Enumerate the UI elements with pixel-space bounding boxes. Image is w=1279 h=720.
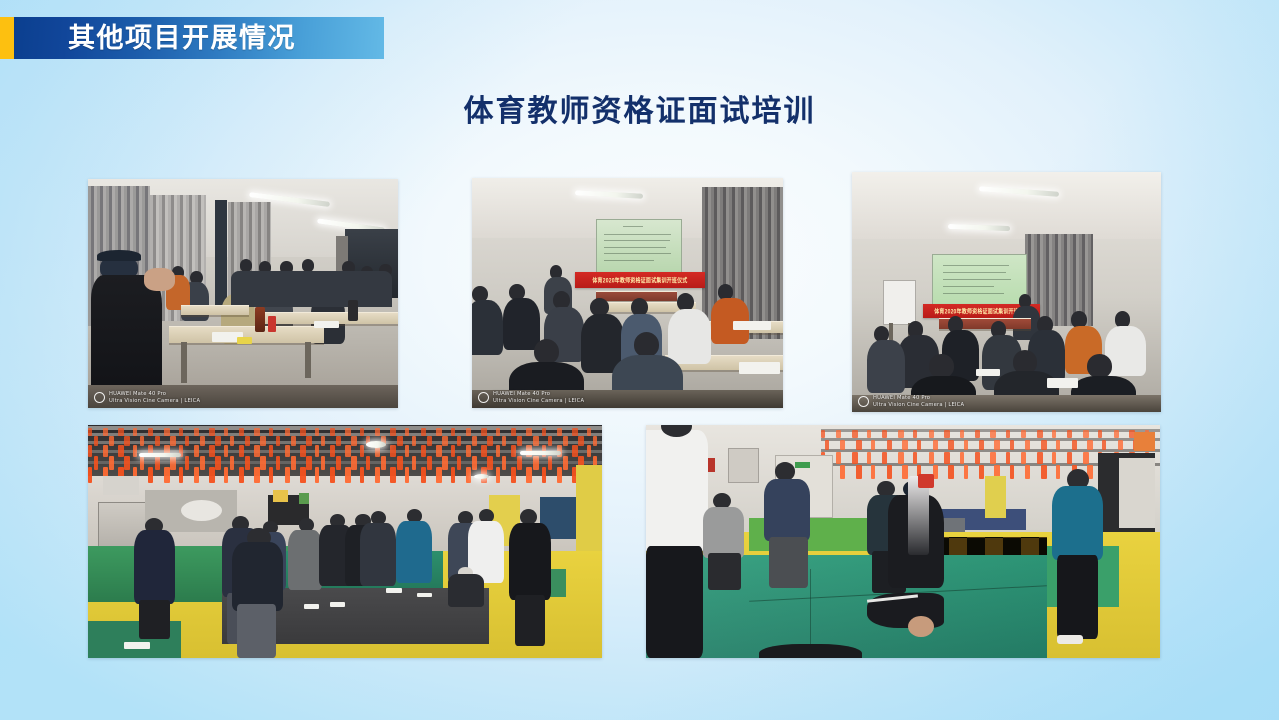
ceiling-flag-decor (321, 456, 325, 470)
ceiling-flag-decor (276, 436, 280, 446)
ceiling-flag-decor (306, 456, 312, 470)
ceiling-flag-decor (852, 430, 858, 438)
ceiling-flag-decor (345, 428, 351, 436)
ceiling-flag-decor (285, 467, 290, 483)
ceiling-flag-decor (472, 436, 477, 446)
ceiling-flag-decor (964, 440, 968, 450)
ceiling-flag-decor (300, 467, 306, 483)
ceiling-flag-decor (1067, 430, 1072, 438)
ceiling-flag-decor (856, 440, 862, 450)
ceiling-flag-decor (276, 456, 280, 470)
ceiling-flag-decor (871, 440, 875, 450)
ceiling-flag-decor (164, 428, 170, 436)
photo-1: HUAWEI Mate 40 Pro Ultra Vision Cine Cam… (88, 179, 398, 408)
ceiling-flag-decor (239, 467, 244, 483)
ceiling-flag-decor (209, 445, 215, 457)
ceiling-flag-decor (269, 445, 273, 457)
ceiling-flag-decor (360, 445, 364, 457)
ceiling-flag-decor (124, 436, 130, 446)
ceiling-flag-decor (245, 436, 250, 446)
watermark-line-2: Ultra Vision Cine Camera | LEICA (873, 402, 964, 408)
ceiling-flag-decor (836, 430, 841, 438)
ceiling-flag-decor (975, 430, 980, 438)
ceiling-flag-decor (239, 445, 244, 457)
ceiling-flag-decor (155, 436, 160, 446)
ceiling-flag-decor (103, 445, 108, 457)
ceiling-flag-decor (979, 440, 984, 450)
ceiling-flag-decor (913, 430, 917, 438)
ceiling-flag-decor (330, 445, 335, 457)
ceiling-flag-decor (960, 452, 964, 464)
ceiling-flag-decor (254, 428, 260, 436)
ceiling-flag-decor (990, 452, 996, 464)
ceiling-flag-decor (254, 467, 260, 483)
ceiling-flag-decor (436, 428, 442, 436)
ceiling-flag-decor (882, 430, 887, 438)
ceiling-flag-decor (898, 430, 904, 438)
ceiling-flag-decor (230, 436, 234, 446)
ceiling-flag-decor (887, 440, 892, 450)
ceiling-flag-decor (269, 428, 273, 436)
ceiling-flag-decor (315, 467, 319, 483)
ceiling-flag-decor (496, 445, 500, 457)
ceiling-flag-decor (118, 428, 124, 436)
ceiling-flag-decor (200, 456, 205, 470)
ceiling-flag-decor (852, 452, 858, 464)
ceiling-flag-decor (88, 467, 92, 483)
ceiling-flag-decor (442, 456, 448, 470)
ceiling-flag-decor (563, 436, 568, 446)
ceiling-flag-decor (1098, 430, 1102, 438)
ceiling-flag-decor (254, 445, 260, 457)
ceiling-flag-decor (548, 436, 552, 446)
ceiling-flag-decor (563, 456, 568, 470)
ceiling-flag-decor (194, 467, 199, 483)
ceiling-flag-decor (1114, 430, 1119, 438)
ceiling-flag-decor (351, 436, 357, 446)
ceiling-flag-decor (321, 436, 325, 446)
ceiling-flag-decor (336, 436, 341, 446)
ceiling-flag-decor (1052, 452, 1056, 464)
ceiling-flag-decor (209, 467, 215, 483)
ceiling-flag-decor (1041, 465, 1047, 479)
ceiling-flag-decor (109, 456, 114, 470)
ceiling-flag-decor (405, 445, 409, 457)
ceiling-flag-decor (496, 428, 500, 436)
ceiling-flag-decor (109, 436, 114, 446)
ceiling-flag-decor (436, 467, 442, 483)
photo-4-scene (88, 425, 602, 658)
ceiling-flag-decor (88, 445, 92, 457)
ceiling-flag-decor (933, 440, 938, 450)
ceiling-flag-decor (871, 465, 875, 479)
section-header-banner: 其他项目开展情况 (0, 17, 384, 59)
ceiling-flag-decor (502, 436, 506, 446)
ceiling-flag-decor (315, 428, 319, 436)
header-gradient-bar: 其他项目开展情况 (14, 17, 384, 59)
ceiling-flag-decor (185, 436, 189, 446)
ceiling-flag-decor (994, 440, 1000, 450)
ceiling-flag-decor (882, 452, 887, 464)
ceiling-flag-decor (330, 467, 335, 483)
photo-3: 体育2020年教师资格证面试集训开班仪式 (852, 172, 1161, 412)
ceiling-flag-decor (1052, 430, 1056, 438)
ceiling-flag-decor (330, 428, 335, 436)
ceiling-flag-decor (170, 456, 176, 470)
ceiling-flag-decor (291, 436, 296, 446)
photo-3-watermark: HUAWEI Mate 40 Pro Ultra Vision Cine Cam… (858, 395, 964, 408)
photo-2: 体育2020年教师资格证面试集训开班仪式 (472, 178, 783, 408)
ceiling-flag-decor (821, 430, 825, 438)
ceiling-flag-decor (533, 456, 539, 470)
ceiling-flag-decor (511, 467, 516, 483)
ceiling-flag-decor (421, 428, 426, 436)
ceiling-flag-decor (194, 428, 199, 436)
ceiling-flag-decor (836, 452, 841, 464)
ceiling-flag-decor (557, 428, 562, 436)
ceiling-flag-decor (902, 440, 908, 450)
ceiling-flag-decor (405, 428, 409, 436)
ceiling-flag-decor (412, 456, 416, 470)
ceiling-flag-decor (975, 452, 980, 464)
ceiling-flag-decor (887, 465, 892, 479)
ceiling-flag-decor (239, 428, 244, 436)
ceiling-flag-decor (405, 467, 409, 483)
ceiling-flag-decor (1072, 440, 1077, 450)
ceiling-flag-decor (526, 428, 532, 436)
ceiling-flag-decor (164, 467, 170, 483)
ceiling-flag-decor (533, 436, 539, 446)
ceiling-flag-decor (487, 456, 493, 470)
ceiling-flag-decor (300, 445, 306, 457)
ceiling-flag-decor (1083, 452, 1089, 464)
ceiling-flag-decor (375, 467, 380, 483)
ceiling-flag-decor (397, 436, 403, 446)
ceiling-flag-decor (481, 445, 487, 457)
ceiling-flag-decor (466, 428, 471, 436)
ceiling-flag-decor (929, 452, 934, 464)
ceiling-flag-decor (840, 440, 845, 450)
ceiling-flag-decor (1010, 440, 1014, 450)
watermark-line-2: Ultra Vision Cine Camera | LEICA (493, 398, 584, 404)
ceiling-flag-decor (179, 467, 183, 483)
photo-2-scene: 体育2020年教师资格证面试集训开班仪式 (472, 178, 783, 408)
ceiling-flag-decor (436, 445, 442, 457)
leica-circle-icon (478, 392, 489, 403)
ceiling-flag-decor (840, 465, 845, 479)
ceiling-flag-decor (103, 428, 108, 436)
ceiling-flag-decor (1067, 452, 1072, 464)
ceiling-flag-decor (487, 436, 493, 446)
ceiling-flag-decor (345, 467, 351, 483)
ceiling-flag-decor (397, 456, 403, 470)
ceiling-flag-decor (300, 428, 306, 436)
ceiling-flag-decor (593, 436, 597, 446)
ceiling-flag-decor (390, 445, 396, 457)
ceiling-flag-decor (472, 456, 477, 470)
ceiling-flag-decor (209, 428, 215, 436)
ceiling-flag-decor (548, 456, 552, 470)
leica-circle-icon (858, 396, 869, 407)
ceiling-flag-decor (118, 445, 124, 457)
ceiling-flag-decor (390, 467, 396, 483)
ceiling-flag-decor (1025, 465, 1030, 479)
ceiling-flag-decor (948, 465, 954, 479)
ceiling-flag-decor (224, 445, 228, 457)
ceiling-flag-decor (542, 467, 546, 483)
photo-4 (88, 425, 602, 658)
ceiling-flag-decor (964, 465, 968, 479)
ceiling-flag-decor (517, 436, 522, 446)
ceiling-flag-decor (1118, 440, 1123, 450)
page-title: 体育教师资格证面试培训 (0, 86, 1279, 130)
ceiling-flag-decor (867, 430, 871, 438)
ceiling-flag-decor (215, 436, 221, 446)
ceiling-flag-decor (230, 456, 234, 470)
ceiling-flag-decor (285, 428, 290, 436)
photo-2-banner-text: 体育2020年教师资格证面试集训开班仪式 (592, 276, 687, 285)
ceiling-flag-decor (944, 452, 950, 464)
ceiling-flag-decor (1037, 452, 1043, 464)
ceiling-flag-decor (898, 452, 904, 464)
ceiling-flag-decor (170, 436, 176, 446)
photo-1-scene: HUAWEI Mate 40 Pro Ultra Vision Cine Cam… (88, 179, 398, 408)
photo-5 (646, 425, 1160, 658)
ceiling-flag-decor (88, 428, 92, 436)
ceiling-flag-decor (245, 456, 250, 470)
header-accent-bar (0, 17, 14, 59)
ceiling-flag-decor (390, 428, 396, 436)
ceiling-flag-decor (381, 456, 386, 470)
ceiling-flag-decor (913, 452, 917, 464)
ceiling-flag-decor (1083, 430, 1089, 438)
ceiling-flag-decor (572, 445, 578, 457)
ceiling-flag-decor (1037, 430, 1043, 438)
ceiling-flag-decor (481, 428, 487, 436)
ceiling-flag-decor (902, 465, 908, 479)
photo-1-watermark: HUAWEI Mate 40 Pro Ultra Vision Cine Cam… (94, 391, 200, 404)
ceiling-flag-decor (511, 428, 516, 436)
ceiling-flag-decor (1056, 465, 1060, 479)
ceiling-flag-decor (148, 428, 153, 436)
ceiling-flag-decor (557, 467, 562, 483)
ceiling-flag-decor (511, 445, 516, 457)
photo-5-scene (646, 425, 1160, 658)
ceiling-flag-decor (825, 440, 829, 450)
header-title: 其他项目开展情况 (68, 17, 296, 59)
ceiling-flag-decor (457, 436, 461, 446)
ceiling-flag-decor (421, 467, 426, 483)
ceiling-flag-decor (1021, 452, 1026, 464)
photo-2-watermark: HUAWEI Mate 40 Pro Ultra Vision Cine Cam… (478, 391, 584, 404)
ceiling-flag-decor (526, 467, 532, 483)
ceiling-flag-decor (1021, 430, 1026, 438)
ceiling-flag-decor (306, 436, 312, 446)
ceiling-flag-decor (185, 456, 189, 470)
ceiling-flag-decor (155, 456, 160, 470)
ceiling-flag-decor (457, 456, 461, 470)
ceiling-flag-decor (360, 428, 364, 436)
ceiling-flag-decor (929, 430, 934, 438)
ceiling-flag-decor (1010, 465, 1014, 479)
ceiling-flag-decor (517, 456, 522, 470)
ceiling-flag-decor (133, 428, 137, 436)
photo-3-scene: 体育2020年教师资格证面试集训开班仪式 (852, 172, 1161, 412)
ceiling-flag-decor (215, 456, 221, 470)
ceiling-flag-decor (990, 430, 996, 438)
ceiling-flag-decor (133, 445, 137, 457)
ceiling-flag-decor (260, 456, 266, 470)
ceiling-flag-decor (1006, 452, 1010, 464)
ceiling-flag-decor (948, 440, 954, 450)
ceiling-flag-decor (572, 428, 578, 436)
ceiling-flag-decor (979, 465, 984, 479)
ceiling-flag-decor (285, 445, 290, 457)
ceiling-flag-decor (427, 456, 432, 470)
ceiling-flag-decor (466, 445, 471, 457)
ceiling-flag-decor (466, 467, 471, 483)
ceiling-flag-decor (260, 436, 266, 446)
ceiling-flag-decor (351, 456, 357, 470)
ceiling-flag-decor (578, 436, 584, 446)
ceiling-flag-decor (179, 428, 183, 436)
ceiling-flag-decor (94, 436, 98, 446)
ceiling-flag-decor (1041, 440, 1047, 450)
ceiling-flag-decor (421, 445, 426, 457)
ceiling-flag-decor (269, 467, 273, 483)
ceiling-flag-decor (944, 430, 950, 438)
ceiling-flag-decor (124, 456, 130, 470)
ceiling-flag-decor (451, 467, 455, 483)
ceiling-flag-decor (867, 452, 871, 464)
ceiling-flag-decor (856, 465, 862, 479)
ceiling-flag-decor (917, 440, 921, 450)
ceiling-flag-decor (224, 428, 228, 436)
ceiling-flag-decor (345, 445, 351, 457)
ceiling-flag-decor (194, 445, 199, 457)
ceiling-flag-decor (315, 445, 319, 457)
ceiling-flag-decor (442, 436, 448, 446)
ceiling-flag-decor (375, 428, 380, 436)
ceiling-flag-decor (291, 456, 296, 470)
leica-circle-icon (94, 392, 105, 403)
ceiling-flag-decor (502, 456, 506, 470)
ceiling-flag-decor (1006, 430, 1010, 438)
ceiling-flag-decor (496, 467, 500, 483)
ceiling-flag-decor (1025, 440, 1030, 450)
ceiling-flag-decor (451, 428, 455, 436)
ceiling-flag-decor (148, 467, 153, 483)
ceiling-flag-decor (1056, 440, 1060, 450)
ceiling-flag-decor (1087, 440, 1093, 450)
ceiling-flag-decor (94, 456, 98, 470)
ceiling-flag-decor (960, 430, 964, 438)
ceiling-flag-decor (360, 467, 364, 483)
ceiling-flag-decor (224, 467, 228, 483)
ceiling-flag-decor (451, 445, 455, 457)
watermark-line-2: Ultra Vision Cine Camera | LEICA (109, 398, 200, 404)
ceiling-flag-decor (412, 436, 416, 446)
ceiling-flag-decor (587, 445, 591, 457)
slide: 其他项目开展情况 体育教师资格证面试培训 (0, 0, 1279, 720)
ceiling-flag-decor (140, 436, 144, 446)
ceiling-flag-decor (542, 428, 546, 436)
ceiling-flag-decor (366, 456, 370, 470)
ceiling-flag-decor (200, 436, 205, 446)
ceiling-flag-decor (140, 456, 144, 470)
ceiling-flag-decor (1102, 440, 1106, 450)
ceiling-flag-decor (587, 428, 591, 436)
ceiling-flag-decor (336, 456, 341, 470)
ceiling-flag-decor (427, 436, 432, 446)
